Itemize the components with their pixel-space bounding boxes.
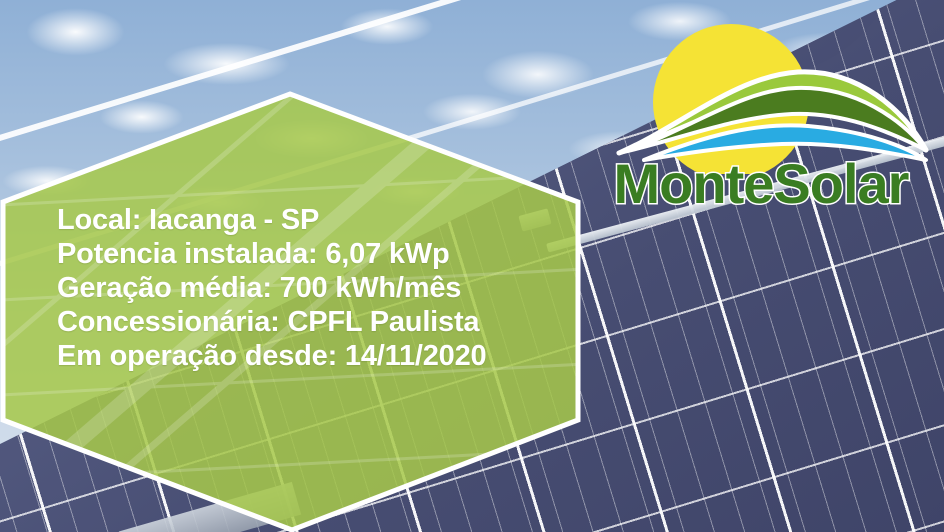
detail-line-potencia: Potencia instalada: 6,07 kWp (57, 237, 577, 271)
detail-line-operacao: Em operação desde: 14/11/2020 (57, 339, 577, 373)
montesolar-logo[interactable]: MonteSolar (586, 14, 936, 214)
promo-card: Local: Iacanga - SP Potencia instalada: … (0, 0, 944, 532)
detail-line-local: Local: Iacanga - SP (57, 203, 577, 237)
logo-wordmark: MonteSolar (588, 154, 934, 214)
detail-line-geracao: Geração média: 700 kWh/mês (57, 271, 577, 305)
logo-mark (586, 14, 936, 174)
installation-details: Local: Iacanga - SP Potencia instalada: … (57, 203, 577, 373)
detail-line-concessionaria: Concessionária: CPFL Paulista (57, 305, 577, 339)
